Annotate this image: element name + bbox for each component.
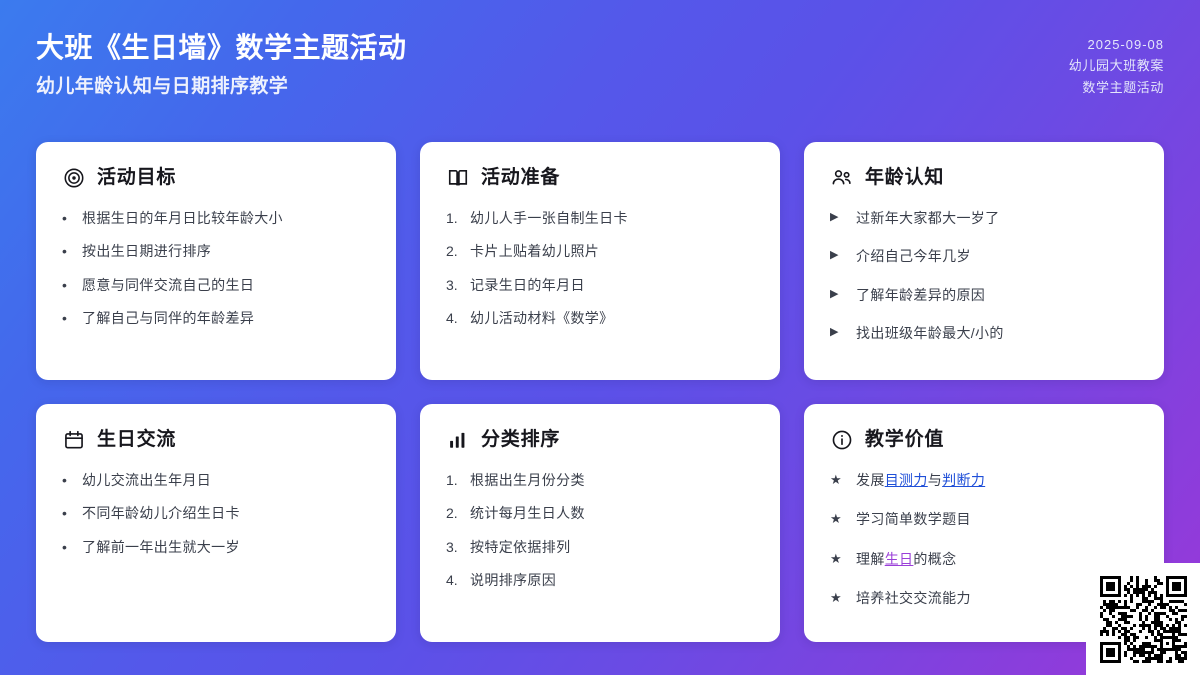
list-marker: ▶ bbox=[830, 323, 848, 342]
list-marker: ★ bbox=[830, 509, 848, 529]
list-marker: • bbox=[62, 275, 80, 295]
inline-link[interactable]: 目测力 bbox=[885, 472, 928, 488]
list-marker: ★ bbox=[830, 470, 848, 490]
list-marker: 3. bbox=[446, 275, 464, 295]
list-marker: 4. bbox=[446, 308, 464, 328]
meta-subject: 数学主题活动 bbox=[1069, 77, 1164, 98]
list-item-text: 培养社交交流能力 bbox=[856, 590, 971, 606]
header-meta-block: 2025-09-08 幼儿园大班教案 数学主题活动 bbox=[1069, 0, 1164, 98]
list-marker: 4. bbox=[446, 570, 464, 590]
list-marker: 2. bbox=[446, 241, 464, 261]
list-item-text: 幼儿活动材料《数学》 bbox=[470, 310, 614, 326]
meta-date: 2025-09-08 bbox=[1069, 34, 1164, 55]
list-marker: • bbox=[62, 537, 80, 557]
list-item-text: 幼儿交流出生年月日 bbox=[82, 472, 211, 488]
list-marker: • bbox=[62, 241, 80, 261]
list-item-text: 统计每月生日人数 bbox=[470, 505, 585, 521]
list-item: 2.统计每月生日人数 bbox=[446, 503, 754, 523]
calendar-icon bbox=[62, 428, 86, 452]
list-item: 3.记录生日的年月日 bbox=[446, 275, 754, 295]
list-item-text: 卡片上贴着幼儿照片 bbox=[470, 243, 599, 259]
card-list: •根据生日的年月日比较年龄大小•按出生日期进行排序•愿意与同伴交流自己的生日•了… bbox=[62, 208, 370, 328]
list-marker: 1. bbox=[446, 470, 464, 490]
card-header: 教学价值 bbox=[830, 428, 1138, 452]
card-age-cognition: 年龄认知▶过新年大家都大一岁了▶介绍自己今年几岁▶了解年龄差异的原因▶找出班级年… bbox=[804, 142, 1164, 380]
list-item: ▶了解年龄差异的原因 bbox=[830, 285, 1138, 305]
qr-code[interactable] bbox=[1086, 563, 1200, 675]
list-item: •按出生日期进行排序 bbox=[62, 241, 370, 261]
card-header: 活动目标 bbox=[62, 166, 370, 190]
list-marker: ▶ bbox=[830, 285, 848, 304]
card-title: 生日交流 bbox=[97, 429, 176, 452]
list-item-text: 根据生日的年月日比较年龄大小 bbox=[82, 210, 283, 226]
card-header: 年龄认知 bbox=[830, 166, 1138, 190]
card-grid: 活动目标•根据生日的年月日比较年龄大小•按出生日期进行排序•愿意与同伴交流自己的… bbox=[36, 142, 1164, 642]
page-title: 大班《生日墙》数学主题活动 bbox=[36, 30, 407, 66]
slide-root: 大班《生日墙》数学主题活动 幼儿年龄认知与日期排序教学 2025-09-08 幼… bbox=[0, 0, 1200, 675]
card-header: 活动准备 bbox=[446, 166, 754, 190]
list-marker: 3. bbox=[446, 537, 464, 557]
list-item-text: 根据出生月份分类 bbox=[470, 472, 585, 488]
slide-header: 大班《生日墙》数学主题活动 幼儿年龄认知与日期排序教学 2025-09-08 幼… bbox=[0, 0, 1200, 128]
card-title: 活动目标 bbox=[97, 167, 176, 190]
list-marker: • bbox=[62, 503, 80, 523]
list-item: •不同年龄幼儿介绍生日卡 bbox=[62, 503, 370, 523]
list-item: ★学习简单数学题目 bbox=[830, 509, 1138, 529]
list-item-text: 愿意与同伴交流自己的生日 bbox=[82, 277, 254, 293]
target-icon bbox=[62, 166, 86, 190]
list-marker: ▶ bbox=[830, 208, 848, 227]
list-item: •幼儿交流出生年月日 bbox=[62, 470, 370, 490]
card-title: 活动准备 bbox=[481, 167, 560, 190]
list-item: •了解前一年出生就大一岁 bbox=[62, 537, 370, 557]
info-icon bbox=[830, 428, 854, 452]
list-item: 4.说明排序原因 bbox=[446, 570, 754, 590]
list-item: ★发展目测力与判断力 bbox=[830, 470, 1138, 490]
list-marker: 1. bbox=[446, 208, 464, 228]
list-item: 2.卡片上贴着幼儿照片 bbox=[446, 241, 754, 261]
list-item-text: 了解自己与同伴的年龄差异 bbox=[82, 310, 254, 326]
list-item-text: 找出班级年龄最大/小的 bbox=[856, 325, 1004, 341]
card-title: 年龄认知 bbox=[865, 167, 944, 190]
list-item-text: 不同年龄幼儿介绍生日卡 bbox=[82, 505, 240, 521]
list-marker: ★ bbox=[830, 588, 848, 608]
list-item-text: 说明排序原因 bbox=[470, 572, 556, 588]
list-item: ▶找出班级年龄最大/小的 bbox=[830, 323, 1138, 343]
list-item: •了解自己与同伴的年龄差异 bbox=[62, 308, 370, 328]
list-item-text: 按出生日期进行排序 bbox=[82, 243, 211, 259]
qr-code-canvas bbox=[1100, 576, 1187, 663]
list-item-text: 过新年大家都大一岁了 bbox=[856, 210, 1000, 226]
card-activity-goals: 活动目标•根据生日的年月日比较年龄大小•按出生日期进行排序•愿意与同伴交流自己的… bbox=[36, 142, 396, 380]
list-item-text: 幼儿人手一张自制生日卡 bbox=[470, 210, 628, 226]
card-title: 教学价值 bbox=[865, 429, 944, 452]
list-item-text: 记录生日的年月日 bbox=[470, 277, 585, 293]
list-item-text: 发展目测力与判断力 bbox=[856, 472, 985, 488]
list-item-text: 理解生日的概念 bbox=[856, 551, 956, 567]
page-subtitle: 幼儿年龄认知与日期排序教学 bbox=[36, 75, 407, 100]
list-item: 1.根据出生月份分类 bbox=[446, 470, 754, 490]
list-marker: ▶ bbox=[830, 246, 848, 265]
inline-link[interactable]: 判断力 bbox=[942, 472, 985, 488]
meta-category: 幼儿园大班教案 bbox=[1069, 55, 1164, 76]
inline-link[interactable]: 生日 bbox=[885, 551, 914, 567]
card-header: 分类排序 bbox=[446, 428, 754, 452]
list-marker: • bbox=[62, 208, 80, 228]
list-item: ▶介绍自己今年几岁 bbox=[830, 246, 1138, 266]
list-item-text: 学习简单数学题目 bbox=[856, 511, 971, 527]
users-icon bbox=[830, 166, 854, 190]
card-birthday-sharing: 生日交流•幼儿交流出生年月日•不同年龄幼儿介绍生日卡•了解前一年出生就大一岁 bbox=[36, 404, 396, 642]
list-item: ▶过新年大家都大一岁了 bbox=[830, 208, 1138, 228]
book-icon bbox=[446, 166, 470, 190]
list-marker: ★ bbox=[830, 549, 848, 569]
list-item-text: 了解年龄差异的原因 bbox=[856, 287, 985, 303]
card-list: •幼儿交流出生年月日•不同年龄幼儿介绍生日卡•了解前一年出生就大一岁 bbox=[62, 470, 370, 557]
card-header: 生日交流 bbox=[62, 428, 370, 452]
card-list: 1.根据出生月份分类2.统计每月生日人数3.按特定依据排列4.说明排序原因 bbox=[446, 470, 754, 590]
card-sorting-classify: 分类排序1.根据出生月份分类2.统计每月生日人数3.按特定依据排列4.说明排序原… bbox=[420, 404, 780, 642]
list-marker: 2. bbox=[446, 503, 464, 523]
list-item: •根据生日的年月日比较年龄大小 bbox=[62, 208, 370, 228]
list-marker: • bbox=[62, 470, 80, 490]
list-item: 1.幼儿人手一张自制生日卡 bbox=[446, 208, 754, 228]
bar-chart-icon bbox=[446, 428, 470, 452]
list-item-text: 按特定依据排列 bbox=[470, 539, 570, 555]
list-item-text: 了解前一年出生就大一岁 bbox=[82, 539, 240, 555]
list-item: •愿意与同伴交流自己的生日 bbox=[62, 275, 370, 295]
header-title-block: 大班《生日墙》数学主题活动 幼儿年龄认知与日期排序教学 bbox=[36, 0, 407, 100]
list-item: 3.按特定依据排列 bbox=[446, 537, 754, 557]
card-title: 分类排序 bbox=[481, 429, 560, 452]
list-item-text: 介绍自己今年几岁 bbox=[856, 248, 971, 264]
card-list: 1.幼儿人手一张自制生日卡2.卡片上贴着幼儿照片3.记录生日的年月日4.幼儿活动… bbox=[446, 208, 754, 328]
card-list: ▶过新年大家都大一岁了▶介绍自己今年几岁▶了解年龄差异的原因▶找出班级年龄最大/… bbox=[830, 208, 1138, 343]
card-activity-prep: 活动准备1.幼儿人手一张自制生日卡2.卡片上贴着幼儿照片3.记录生日的年月日4.… bbox=[420, 142, 780, 380]
list-marker: • bbox=[62, 308, 80, 328]
list-item: 4.幼儿活动材料《数学》 bbox=[446, 308, 754, 328]
